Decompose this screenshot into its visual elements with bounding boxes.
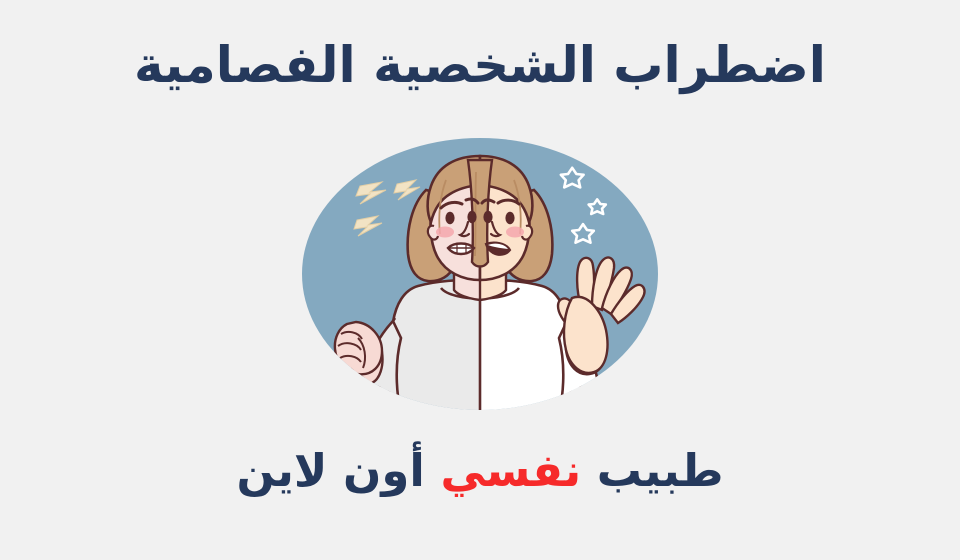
blush-right bbox=[506, 227, 524, 238]
tagline-part1: طبيب bbox=[581, 444, 723, 497]
torso-left bbox=[389, 280, 480, 423]
tagline: طبيب نفسي أون لاين bbox=[0, 444, 960, 497]
torso-right bbox=[480, 280, 571, 423]
blush-left bbox=[436, 227, 454, 238]
tagline-part2: أون لاين bbox=[236, 444, 440, 497]
illustration-svg bbox=[300, 138, 660, 423]
poster-canvas: اضطراب الشخصية الفصامية bbox=[0, 0, 960, 560]
eye-right-outer bbox=[505, 212, 514, 224]
tagline-accent: نفسي bbox=[441, 444, 582, 497]
split-personality-illustration bbox=[300, 138, 660, 423]
page-title: اضطراب الشخصية الفصامية bbox=[0, 36, 960, 94]
eye-left-outer bbox=[445, 212, 454, 224]
